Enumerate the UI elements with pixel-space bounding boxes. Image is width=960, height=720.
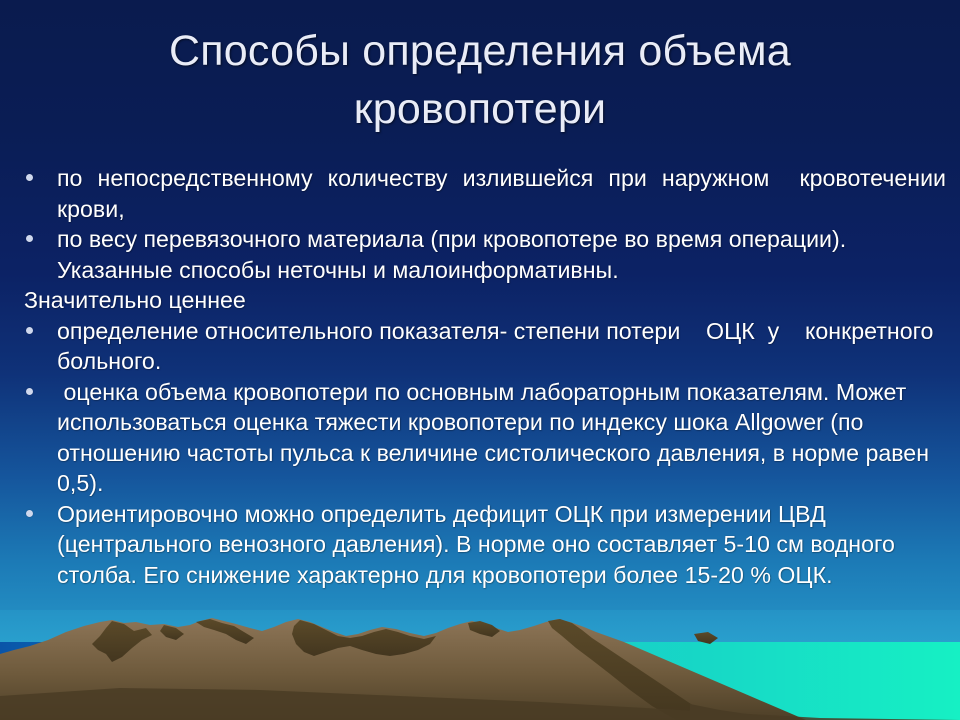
bullet-text: Ориентировочно можно определить дефицит … bbox=[57, 501, 901, 588]
bullet-text: по непосредственному количеству излившей… bbox=[57, 165, 952, 222]
mountain-landscape-graphic bbox=[0, 610, 960, 720]
bullet-text: оценка объема кровопотери по основным ла… bbox=[57, 379, 935, 497]
bullet-item: по весу перевязочного материала (при кро… bbox=[14, 224, 946, 285]
slide-title: Способы определения объема кровопотери bbox=[0, 22, 960, 139]
bullet-item: по непосредственному количеству излившей… bbox=[14, 163, 946, 224]
bullet-item: Ориентировочно можно определить дефицит … bbox=[14, 499, 946, 591]
bullet-text: по весу перевязочного материала (при кро… bbox=[57, 226, 859, 283]
presentation-slide: Способы определения объема кровопотери п… bbox=[0, 0, 960, 720]
slide-body: по непосредственному количеству излившей… bbox=[0, 163, 960, 590]
plain-text: Значительно ценнее bbox=[24, 287, 246, 313]
bullet-item: определение относительного показателя- с… bbox=[14, 316, 946, 377]
plain-line: Значительно ценнее bbox=[14, 285, 946, 316]
bullet-text: определение относительного показателя- с… bbox=[57, 318, 940, 375]
landscape-svg bbox=[0, 610, 960, 720]
bullet-item: оценка объема кровопотери по основным ла… bbox=[14, 377, 946, 499]
